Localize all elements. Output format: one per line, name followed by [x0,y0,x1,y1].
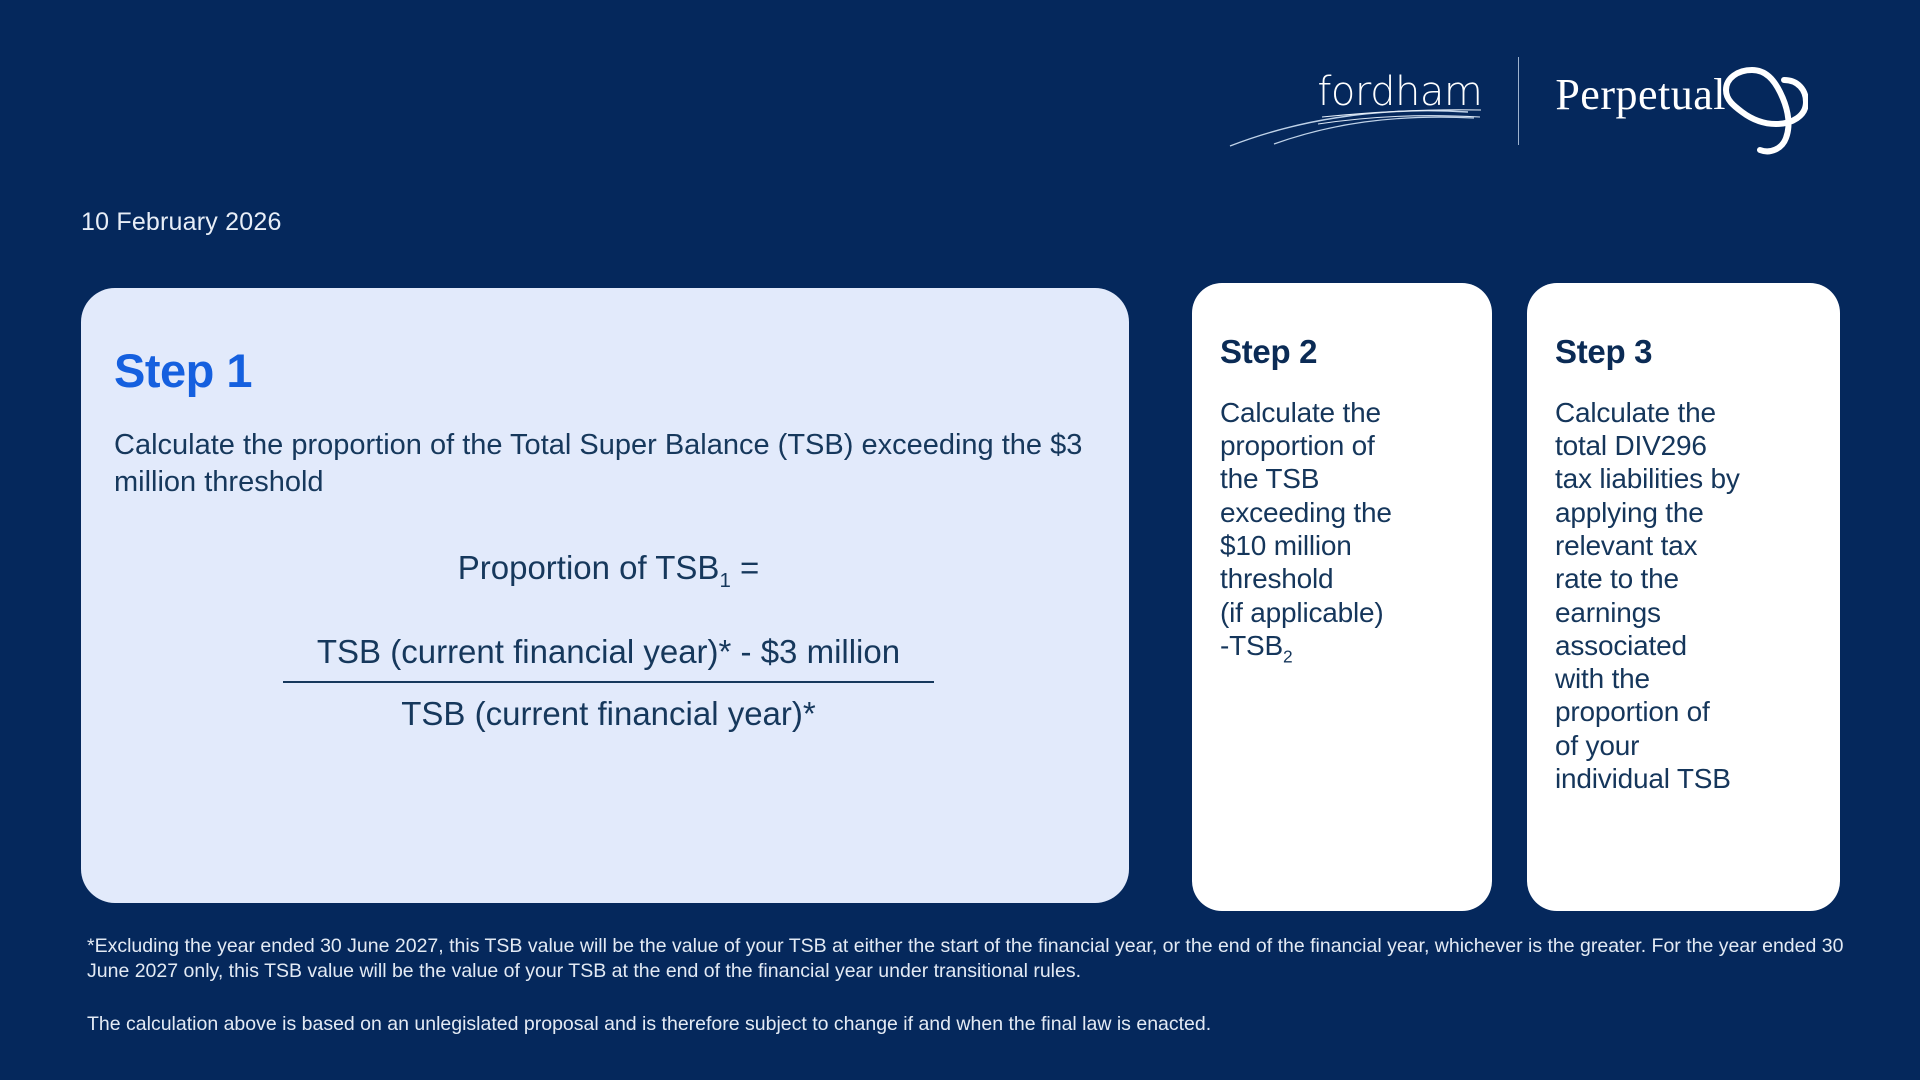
step-2-body-subscript: 2 [1283,646,1292,666]
formula-lhs-subscript: 1 [719,568,730,591]
step-3-body: Calculate the total DIV296 tax liabiliti… [1555,396,1812,796]
formula-lhs-label: Proportion of TSB [458,549,720,586]
perpetual-logo-text: Perpetual [1555,73,1726,129]
step-card-3: Step 3 Calculate the total DIV296 tax li… [1527,283,1840,911]
footnote-asterisk: *Excluding the year ended 30 June 2027, … [87,934,1847,985]
fordham-swoosh-icon [1222,84,1482,154]
step-1-formula: Proportion of TSB1 = TSB (current financ… [114,550,1089,733]
formula-equals-sign: = [740,549,759,586]
footnote-disclaimer: The calculation above is based on an unl… [87,1012,1847,1037]
step-2-body: Calculate the proportion of the TSB exce… [1220,396,1464,667]
perpetual-logo: Perpetual [1555,49,1808,154]
slide-date: 10 February 2026 [81,208,282,237]
formula-fraction: TSB (current financial year)* - $3 milli… [269,634,934,733]
formula-denominator: TSB (current financial year)* [283,683,934,732]
footnotes: *Excluding the year ended 30 June 2027, … [87,934,1847,1037]
formula-numerator: TSB (current financial year)* - $3 milli… [283,634,934,683]
step-2-body-text: Calculate the proportion of the TSB exce… [1220,397,1392,661]
step-card-2: Step 2 Calculate the proportion of the T… [1192,283,1492,911]
fordham-logo: fordham [1232,49,1482,154]
logo-bar: fordham Perpetual [1232,46,1808,156]
step-1-title: Step 1 [114,346,1089,395]
step-3-title: Step 3 [1555,335,1812,370]
slide: fordham Perpetual 10 February 2026 Step … [0,0,1920,1080]
step-card-1: Step 1 Calculate the proportion of the T… [81,288,1129,903]
formula-left-hand-side: Proportion of TSB1 = [114,550,1089,592]
step-2-title: Step 2 [1220,335,1464,370]
perpetual-mark-icon [1722,60,1808,156]
logo-divider [1518,57,1519,145]
step-1-body: Calculate the proportion of the Total Su… [114,427,1089,501]
